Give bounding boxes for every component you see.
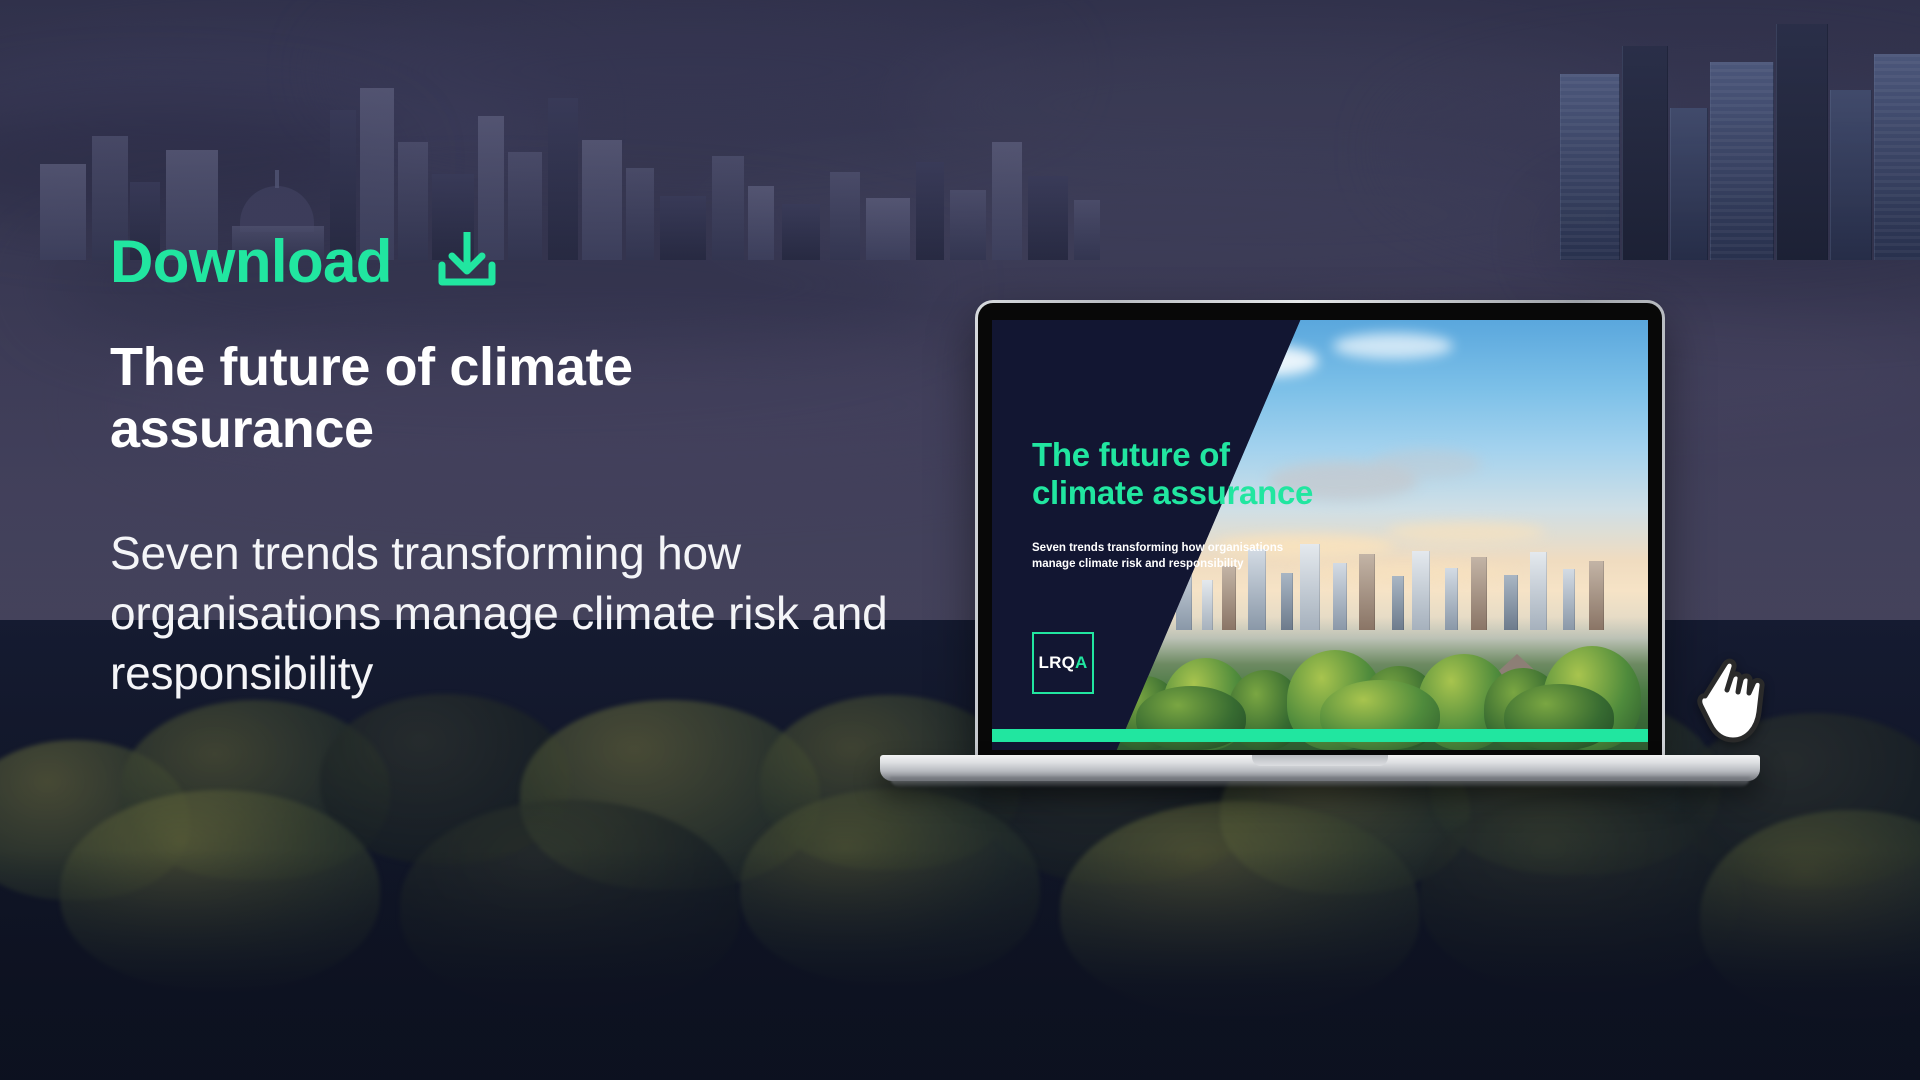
pointing-hand-cursor-icon bbox=[1695, 640, 1787, 748]
download-arrow-icon[interactable] bbox=[434, 228, 500, 295]
slide-title: The future of climate assurance bbox=[1032, 436, 1332, 513]
slide-accent-bar bbox=[992, 729, 1648, 742]
promo-text-column: Download The future of climate assurance… bbox=[110, 228, 1000, 703]
laptop-lid: The future of climate assurance Seven tr… bbox=[975, 300, 1665, 760]
lrqa-logo: LRQA bbox=[1032, 632, 1094, 694]
promo-subtext: Seven trends transforming how organisati… bbox=[110, 524, 990, 703]
laptop-mockup: The future of climate assurance Seven tr… bbox=[975, 300, 1665, 760]
download-label: Download bbox=[110, 232, 392, 292]
promo-banner: Download The future of climate assurance… bbox=[0, 0, 1920, 1080]
laptop-base bbox=[880, 755, 1760, 781]
slide-subtitle: Seven trends transforming how organisati… bbox=[1032, 540, 1302, 573]
laptop-bezel: The future of climate assurance Seven tr… bbox=[978, 303, 1662, 760]
download-cta[interactable]: Download bbox=[110, 228, 1000, 295]
lrqa-logo-mark: LRQA bbox=[1039, 653, 1088, 673]
promo-headline: The future of climate assurance bbox=[110, 337, 810, 460]
laptop-screen[interactable]: The future of climate assurance Seven tr… bbox=[992, 320, 1648, 750]
lrqa-logo-text: LRQ bbox=[1039, 653, 1075, 673]
lrqa-logo-accent: A bbox=[1075, 653, 1087, 673]
